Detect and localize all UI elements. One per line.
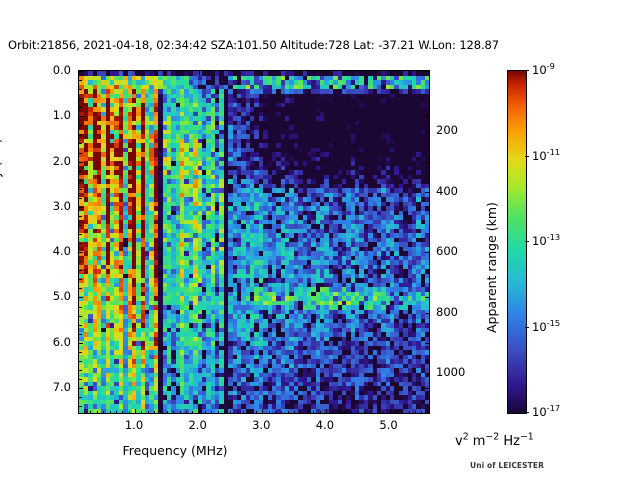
y-tick-label: 4.0 — [31, 244, 71, 258]
y-tick-minor — [79, 288, 82, 289]
x-tick-minor — [129, 411, 130, 414]
y-tick-major — [79, 297, 83, 298]
x-tick-minor — [230, 411, 231, 414]
y-tick-major — [79, 162, 83, 163]
y-tick-minor — [79, 134, 82, 135]
x-tick-minor — [288, 411, 289, 414]
x-tick-minor — [415, 411, 416, 414]
x-tick-minor — [409, 411, 410, 414]
x-tick-major — [262, 409, 263, 413]
x-tick-minor — [307, 411, 308, 414]
y-axis-title: Time Delay (ms) — [0, 138, 3, 241]
ionogram-figure: Orbit:21856, 2021-04-18, 02:34:42 SZA:10… — [0, 0, 640, 480]
x-tick-minor — [224, 411, 225, 414]
x-tick-minor — [97, 411, 98, 414]
y-tick-minor — [79, 316, 82, 317]
y-tick-label: 7.0 — [31, 380, 71, 394]
y-tick-minor — [79, 180, 82, 181]
heatmap-plot-area — [78, 70, 430, 414]
x-tick-minor — [320, 411, 321, 414]
x-tick-minor — [383, 411, 384, 414]
x-tick-minor — [173, 411, 174, 414]
x-tick-minor — [377, 411, 378, 414]
x-tick-minor — [269, 411, 270, 414]
y-right-tick-label: 200 — [436, 123, 482, 137]
y-tick-minor — [79, 89, 82, 90]
y-tick-label: 2.0 — [31, 154, 71, 168]
y-tick-major-right — [425, 388, 429, 389]
x-tick-minor — [256, 411, 257, 414]
colorbar-tick-label: 10-13 — [532, 234, 560, 248]
x-tick-minor — [421, 411, 422, 414]
y-right-axis-title: Apparent range (km) — [484, 202, 499, 333]
y-tick-major — [79, 343, 83, 344]
y-right-tick-major — [425, 192, 429, 193]
y-tick-minor — [79, 153, 82, 154]
x-tick-minor — [237, 411, 238, 414]
y-tick-major — [79, 388, 83, 389]
x-tick-major — [135, 409, 136, 413]
colorbar-tick-label: 10-11 — [532, 149, 560, 163]
y-tick-label: 1.0 — [31, 108, 71, 122]
x-tick-minor — [141, 411, 142, 414]
y-tick-major — [79, 71, 83, 72]
x-tick-minor — [332, 411, 333, 414]
x-tick-minor — [186, 411, 187, 414]
y-tick-major-right — [425, 207, 429, 208]
y-right-tick-major — [425, 252, 429, 253]
colorbar-tick-label: 10-9 — [532, 63, 555, 77]
y-tick-minor — [79, 216, 82, 217]
x-tick-minor — [358, 411, 359, 414]
y-tick-minor — [79, 98, 82, 99]
x-tick-minor — [243, 411, 244, 414]
figure-title: Orbit:21856, 2021-04-18, 02:34:42 SZA:10… — [8, 38, 499, 52]
x-tick-minor — [428, 411, 429, 414]
y-tick-label: 6.0 — [31, 335, 71, 349]
x-tick-label: 2.0 — [173, 418, 223, 432]
y-tick-minor — [79, 325, 82, 326]
y-tick-major-right — [425, 116, 429, 117]
x-tick-minor — [167, 411, 168, 414]
colorbar-tick — [525, 241, 529, 242]
colorbar — [507, 70, 527, 414]
y-right-tick-major — [425, 131, 429, 132]
x-tick-minor — [103, 411, 104, 414]
y-tick-minor — [79, 234, 82, 235]
y-tick-label: 0.0 — [31, 63, 71, 77]
x-tick-minor — [300, 411, 301, 414]
colorbar-units-label: v2 m−2 Hz−1 — [455, 434, 534, 449]
x-tick-major — [326, 409, 327, 413]
x-tick-label: 1.0 — [109, 418, 159, 432]
x-tick-major-top — [262, 71, 263, 75]
x-tick-minor — [192, 411, 193, 414]
x-tick-minor — [160, 411, 161, 414]
x-tick-minor — [351, 411, 352, 414]
x-tick-major-top — [390, 71, 391, 75]
x-tick-minor — [180, 411, 181, 414]
x-tick-minor — [370, 411, 371, 414]
x-tick-minor — [154, 411, 155, 414]
x-tick-major — [390, 409, 391, 413]
y-tick-minor — [79, 406, 82, 407]
colorbar-tick — [525, 412, 529, 413]
x-tick-minor — [275, 411, 276, 414]
x-tick-minor — [122, 411, 123, 414]
y-right-tick-label: 1000 — [436, 365, 482, 379]
x-tick-minor — [211, 411, 212, 414]
y-tick-major-right — [425, 162, 429, 163]
colorbar-gradient — [508, 71, 526, 413]
x-tick-label: 3.0 — [236, 418, 286, 432]
credit-label: Uni of LEICESTER — [470, 461, 544, 470]
y-tick-minor — [79, 125, 82, 126]
x-tick-minor — [250, 411, 251, 414]
x-tick-minor — [396, 411, 397, 414]
y-tick-minor — [79, 80, 82, 81]
y-tick-minor — [79, 397, 82, 398]
y-tick-minor — [79, 279, 82, 280]
x-tick-minor — [364, 411, 365, 414]
y-tick-minor — [79, 189, 82, 190]
x-tick-minor — [339, 411, 340, 414]
x-tick-minor — [313, 411, 314, 414]
y-tick-minor — [79, 198, 82, 199]
y-tick-minor — [79, 261, 82, 262]
y-right-tick-major — [425, 313, 429, 314]
x-tick-major-top — [135, 71, 136, 75]
colorbar-tick-label: 10-17 — [532, 405, 560, 419]
x-tick-minor — [205, 411, 206, 414]
x-tick-minor — [294, 411, 295, 414]
y-tick-minor — [79, 107, 82, 108]
y-tick-minor — [79, 352, 82, 353]
y-right-tick-label: 600 — [436, 244, 482, 258]
y-tick-minor — [79, 171, 82, 172]
y-tick-minor — [79, 143, 82, 144]
y-tick-major-right — [425, 71, 429, 72]
x-tick-label: 4.0 — [300, 418, 350, 432]
y-right-tick-label: 400 — [436, 184, 482, 198]
colorbar-tick — [525, 156, 529, 157]
y-tick-label: 3.0 — [31, 199, 71, 213]
y-tick-minor — [79, 243, 82, 244]
y-tick-minor — [79, 307, 82, 308]
y-tick-major-right — [425, 297, 429, 298]
y-tick-label: 5.0 — [31, 289, 71, 303]
x-tick-minor — [90, 411, 91, 414]
x-tick-minor — [116, 411, 117, 414]
x-tick-minor — [281, 411, 282, 414]
colorbar-tick-label: 10-15 — [532, 320, 560, 334]
heatmap-image — [79, 71, 429, 413]
y-right-tick-label: 800 — [436, 305, 482, 319]
colorbar-tick — [525, 70, 529, 71]
x-tick-minor — [402, 411, 403, 414]
colorbar-tick — [525, 327, 529, 328]
y-right-tick-major — [425, 373, 429, 374]
x-tick-label: 5.0 — [364, 418, 414, 432]
x-tick-major-top — [199, 71, 200, 75]
y-tick-minor — [79, 270, 82, 271]
x-tick-minor — [345, 411, 346, 414]
y-tick-minor — [79, 225, 82, 226]
x-tick-minor — [110, 411, 111, 414]
x-tick-major — [199, 409, 200, 413]
y-tick-minor — [79, 334, 82, 335]
x-tick-minor — [148, 411, 149, 414]
y-tick-minor — [79, 379, 82, 380]
y-tick-major-right — [425, 343, 429, 344]
y-tick-major — [79, 207, 83, 208]
x-tick-minor — [84, 411, 85, 414]
x-axis-title: Frequency (MHz) — [122, 443, 227, 458]
y-tick-minor — [79, 361, 82, 362]
y-tick-major — [79, 116, 83, 117]
x-tick-major-top — [326, 71, 327, 75]
y-tick-major — [79, 252, 83, 253]
y-tick-minor — [79, 370, 82, 371]
x-tick-minor — [218, 411, 219, 414]
